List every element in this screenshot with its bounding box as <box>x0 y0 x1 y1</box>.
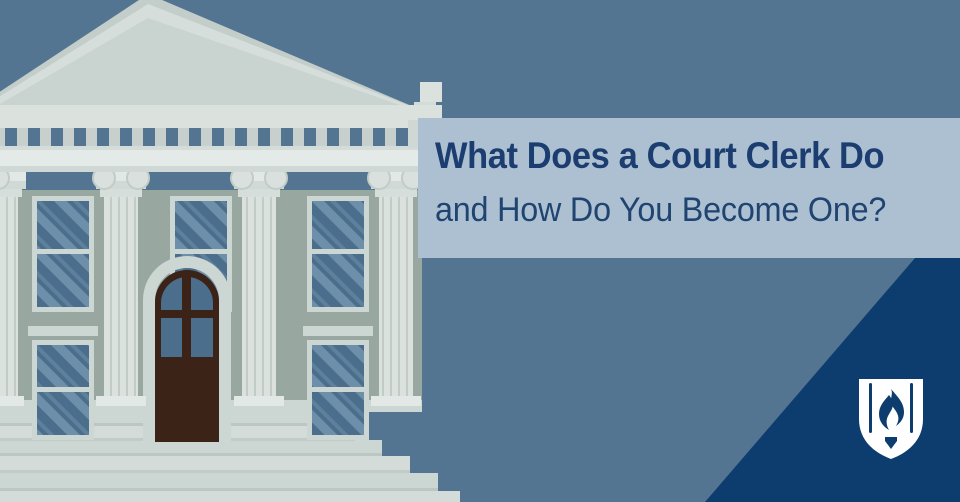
headline-primary: What Does a Court Clerk Do <box>435 135 884 177</box>
upper-window <box>307 196 369 312</box>
lower-window <box>303 326 373 440</box>
pediment-roof <box>0 0 442 120</box>
upper-window <box>32 196 94 312</box>
dentil-molding <box>0 128 419 146</box>
rasmussen-shield-flame-logo <box>855 375 927 463</box>
headline-secondary: and How Do You Become One? <box>435 191 886 230</box>
front-door <box>143 256 231 442</box>
marketing-banner-image: What Does a Court Clerk Do and How Do Yo… <box>0 0 960 502</box>
headline-banner: What Does a Court Clerk Do and How Do Yo… <box>418 118 960 258</box>
lower-window <box>28 326 98 440</box>
courthouse-illustration <box>0 0 470 502</box>
